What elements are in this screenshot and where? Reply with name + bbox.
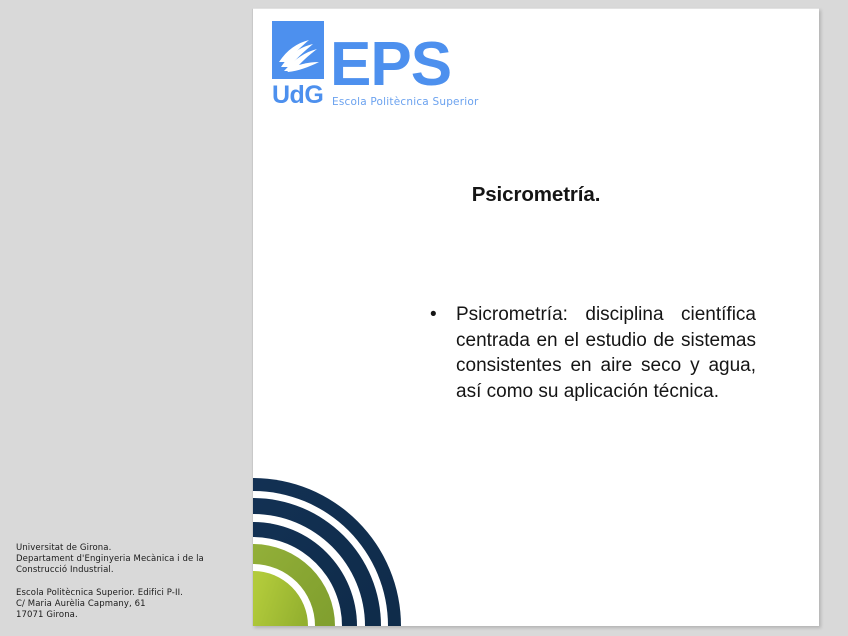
slide-canvas: UdG EPS Escola Politècnica Superior Psic… [252,8,819,626]
bullet-marker-icon: • [428,302,456,328]
address-spacer [16,577,240,588]
eps-wordmark: EPS Escola Politècnica Superior [330,23,480,109]
svg-text:UdG: UdG [272,81,323,107]
bullet-list-item: • Psicrometría: disciplina científica ce… [428,302,756,404]
address-line: Universitat de Girona. [16,543,240,554]
udg-logo-mark: UdG [272,21,324,107]
address-line: Construcció Industrial. [16,565,240,576]
address-line: Escola Politècnica Superior. Edifici P-I… [16,588,240,599]
address-line: 17071 Girona. [16,610,240,621]
address-line: Departament d'Enginyeria Mecànica i de l… [16,554,240,565]
address-line: C/ Maria Aurèlia Capmany, 61 [16,599,240,610]
svg-text:EPS: EPS [330,30,451,99]
address-group-university: Universitat de Girona. Departament d'Eng… [16,543,240,577]
svg-text:Escola Politècnica Superior: Escola Politècnica Superior [332,96,479,108]
address-group-school: Escola Politècnica Superior. Edifici P-I… [16,588,240,622]
bullet-item-text: Psicrometría: disciplina científica cent… [456,302,756,404]
slide-title: Psicrometría. [253,183,819,207]
eps-udg-logo: UdG EPS Escola Politècnica Superior [272,21,482,113]
corner-arcs-graphic [253,421,403,626]
institutional-address: Universitat de Girona. Departament d'Eng… [16,543,240,621]
